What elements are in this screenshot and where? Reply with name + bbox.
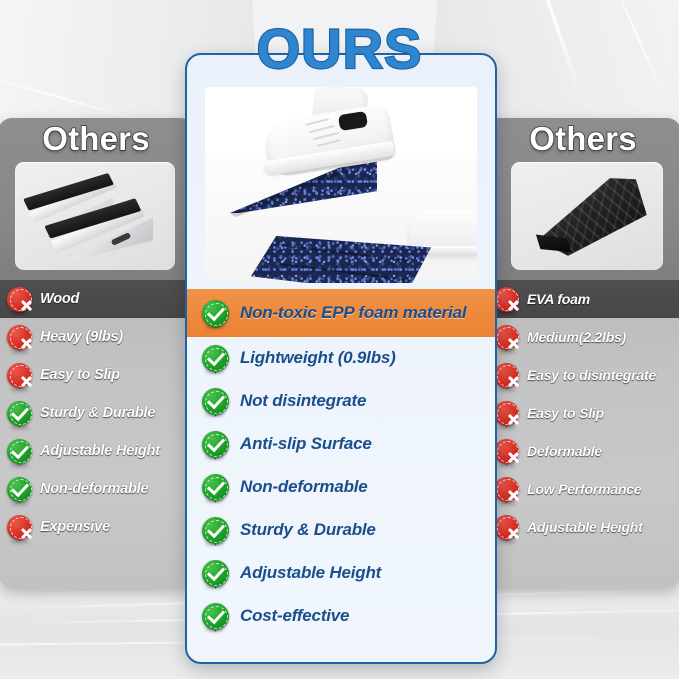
check-glyph — [208, 527, 224, 534]
feature-row: Adjustable Height — [187, 552, 495, 595]
cross-icon — [494, 515, 519, 540]
ours-title: OURS — [0, 16, 679, 81]
others-panel-right: Others EVA foamMedium(2.2lbs)Easy to dis… — [485, 118, 679, 588]
feature-row: Expensive — [0, 508, 194, 546]
feature-label: Heavy (9lbs) — [40, 329, 123, 345]
check-glyph — [208, 613, 224, 620]
check-icon — [202, 603, 229, 630]
feature-row-highlighted: Non-toxic EPP foam material — [187, 289, 495, 337]
feature-label: Non-toxic EPP foam material — [240, 304, 466, 322]
cross-icon — [494, 401, 519, 426]
foam-seam — [280, 263, 409, 281]
check-icon — [202, 300, 229, 327]
others-left-product-image — [15, 162, 175, 270]
check-glyph — [12, 410, 28, 417]
icon-circle — [7, 363, 32, 388]
icon-circle — [202, 431, 229, 458]
feature-label: EVA foam — [527, 291, 590, 307]
check-glyph — [208, 484, 224, 491]
cross-icon — [7, 325, 32, 350]
feature-label: Sturdy & Durable — [240, 521, 376, 539]
cross-icon — [494, 439, 519, 464]
check-glyph — [208, 310, 224, 317]
icon-circle — [494, 477, 519, 502]
others-left-header: Others — [0, 118, 194, 280]
check-glyph — [208, 570, 224, 577]
check-glyph — [12, 486, 28, 493]
icon-circle — [202, 603, 229, 630]
feature-row: Sturdy & Durable — [0, 394, 194, 432]
cross-icon — [7, 363, 32, 388]
cross-icon — [7, 515, 32, 540]
feature-row: Non-deformable — [0, 470, 194, 508]
feature-label: Non-deformable — [40, 481, 148, 497]
feature-label: Adjustable Height — [240, 564, 381, 582]
feature-row: Low Performance — [485, 470, 679, 508]
others-left-title: Others — [0, 120, 194, 158]
others-right-header: Others — [485, 118, 679, 280]
icon-circle — [7, 439, 32, 464]
feature-row: Heavy (9lbs) — [0, 318, 194, 356]
feature-label: Wood — [40, 291, 79, 307]
feature-row: Wood — [0, 280, 194, 318]
feature-label: Cost-effective — [240, 607, 349, 625]
feature-label: Anti-slip Surface — [240, 435, 372, 453]
rubber-wedge-ramp — [526, 171, 651, 263]
others-panel-left: Others WoodHeavy (9lbs)Easy to SlipSturd… — [0, 118, 194, 588]
feature-row: Adjustable Height — [485, 508, 679, 546]
cross-icon — [494, 477, 519, 502]
feature-label: Not disintegrate — [240, 392, 366, 410]
check-glyph — [12, 448, 28, 455]
others-right-feature-list: EVA foamMedium(2.2lbs)Easy to disintegra… — [485, 280, 679, 588]
feature-row: Lightweight (0.9lbs) — [187, 337, 495, 380]
check-icon — [202, 517, 229, 544]
feature-label: Easy to disintegrate — [527, 367, 656, 383]
icon-circle — [494, 401, 519, 426]
feature-row: EVA foam — [485, 280, 679, 318]
feature-label: Adjustable Height — [40, 443, 160, 459]
check-glyph — [208, 398, 224, 405]
check-icon — [7, 439, 32, 464]
feature-row: Easy to Slip — [485, 394, 679, 432]
cross-icon — [494, 363, 519, 388]
icon-circle — [494, 363, 519, 388]
feature-row: Adjustable Height — [0, 432, 194, 470]
feature-label: Deformable — [527, 443, 602, 459]
check-icon — [202, 388, 229, 415]
check-icon — [202, 345, 229, 372]
icon-circle — [202, 300, 229, 327]
icon-circle — [202, 474, 229, 501]
feature-row: Anti-slip Surface — [187, 423, 495, 466]
icon-circle — [202, 388, 229, 415]
cross-icon — [7, 287, 32, 312]
ours-feature-list: Non-toxic EPP foam materialLightweight (… — [187, 289, 495, 662]
feature-label: Lightweight (0.9lbs) — [240, 349, 396, 367]
feature-row: Non-deformable — [187, 466, 495, 509]
feature-label: Medium(2.2lbs) — [527, 329, 626, 345]
feature-label: Easy to Slip — [527, 405, 604, 421]
others-right-product-image — [511, 162, 663, 270]
others-right-title: Others — [485, 120, 679, 158]
feature-row: Cost-effective — [187, 595, 495, 638]
icon-circle — [494, 287, 519, 312]
cross-icon — [494, 325, 519, 350]
icon-circle — [7, 401, 32, 426]
icon-circle — [202, 560, 229, 587]
icon-circle — [494, 439, 519, 464]
ours-product-image — [205, 87, 477, 283]
icon-circle — [494, 325, 519, 350]
others-left-feature-list: WoodHeavy (9lbs)Easy to SlipSturdy & Dur… — [0, 280, 194, 588]
check-glyph — [208, 441, 224, 448]
ours-panel: Non-toxic EPP foam materialLightweight (… — [185, 53, 497, 664]
feature-label: Easy to Slip — [40, 367, 120, 383]
icon-circle — [7, 477, 32, 502]
icon-circle — [7, 325, 32, 350]
check-icon — [202, 474, 229, 501]
check-icon — [7, 401, 32, 426]
check-icon — [7, 477, 32, 502]
icon-circle — [7, 515, 32, 540]
icon-circle — [202, 517, 229, 544]
icon-circle — [7, 287, 32, 312]
icon-circle — [202, 345, 229, 372]
feature-row: Easy to Slip — [0, 356, 194, 394]
feature-label: Sturdy & Durable — [40, 405, 155, 421]
feature-label: Non-deformable — [240, 478, 368, 496]
feature-row: Not disintegrate — [187, 380, 495, 423]
white-sneaker — [265, 95, 397, 183]
feature-label: Low Performance — [527, 481, 641, 497]
cross-icon — [494, 287, 519, 312]
icon-circle — [494, 515, 519, 540]
feature-row: Easy to disintegrate — [485, 356, 679, 394]
feature-label: Expensive — [40, 519, 110, 535]
feature-label: Adjustable Height — [527, 519, 643, 535]
check-glyph — [208, 355, 224, 362]
feature-row: Medium(2.2lbs) — [485, 318, 679, 356]
feature-row: Sturdy & Durable — [187, 509, 495, 552]
check-icon — [202, 560, 229, 587]
foam-seam — [280, 244, 409, 262]
check-icon — [202, 431, 229, 458]
feature-row: Deformable — [485, 432, 679, 470]
